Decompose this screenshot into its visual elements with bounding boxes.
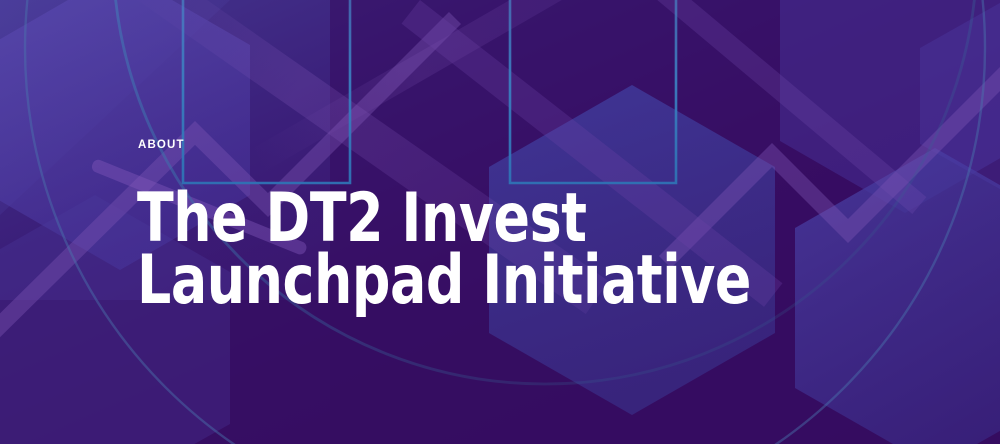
- hero-content: ABOUT The DT2 Invest Launchpad Initiativ…: [137, 140, 897, 313]
- background-deep-wash-bottom: [0, 300, 1000, 444]
- hero-banner: ABOUT The DT2 Invest Launchpad Initiativ…: [0, 0, 1000, 444]
- eyebrow-label: ABOUT: [138, 140, 897, 152]
- page-title: The DT2 Invest Launchpad Initiative: [137, 188, 806, 313]
- hexagon-right-small: [920, 0, 1000, 192]
